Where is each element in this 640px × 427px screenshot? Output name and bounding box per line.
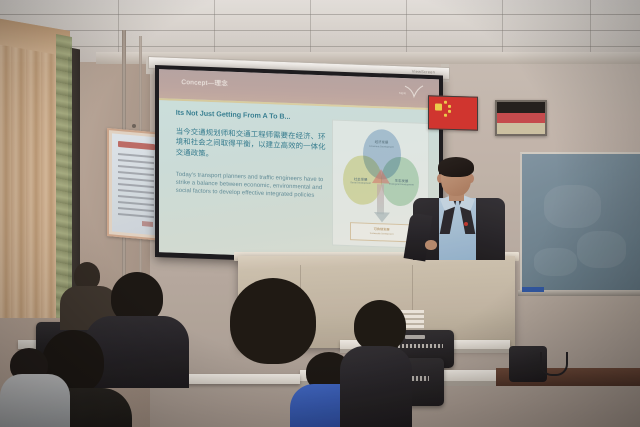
- classroom-whiteboard: [520, 152, 640, 296]
- projection-screen: Concept—理念 Mgile Its Not Just Getting Fr…: [155, 65, 443, 268]
- slide-content: Concept—理念 Mgile Its Not Just Getting Fr…: [159, 69, 439, 262]
- slide-header-text: Concept—理念: [181, 76, 228, 88]
- speaker-hand: [425, 240, 437, 250]
- poster-mount-pin: [132, 124, 136, 128]
- svg-text:Mgile: Mgile: [399, 91, 406, 95]
- marker-pen: [522, 287, 544, 292]
- venn-arrow-stem: [377, 184, 384, 214]
- germany-flag: [495, 100, 547, 136]
- venn-arrow-point: [374, 212, 390, 223]
- slide-chinese-paragraph: 当今交通规划师和交通工程师需要在经济、环境和社会之间取得平衡，以建立高效的一体化…: [176, 126, 327, 164]
- classroom-photo: ViewScreen Concept—理念 Mgile Its Not Just…: [0, 0, 640, 427]
- student-front-left-light-jacket: [0, 348, 70, 427]
- speaker-lapel-pin: [464, 222, 468, 226]
- poster-title-bar: [118, 141, 155, 150]
- speaker-hair: [438, 157, 474, 177]
- bag-strap: [540, 352, 568, 376]
- swoosh-v-logo-icon: Mgile: [399, 83, 425, 99]
- speaker: [403, 160, 521, 260]
- student-dark-right-edge: [340, 300, 412, 427]
- china-flag: [428, 95, 478, 130]
- poster-seal: [142, 221, 153, 227]
